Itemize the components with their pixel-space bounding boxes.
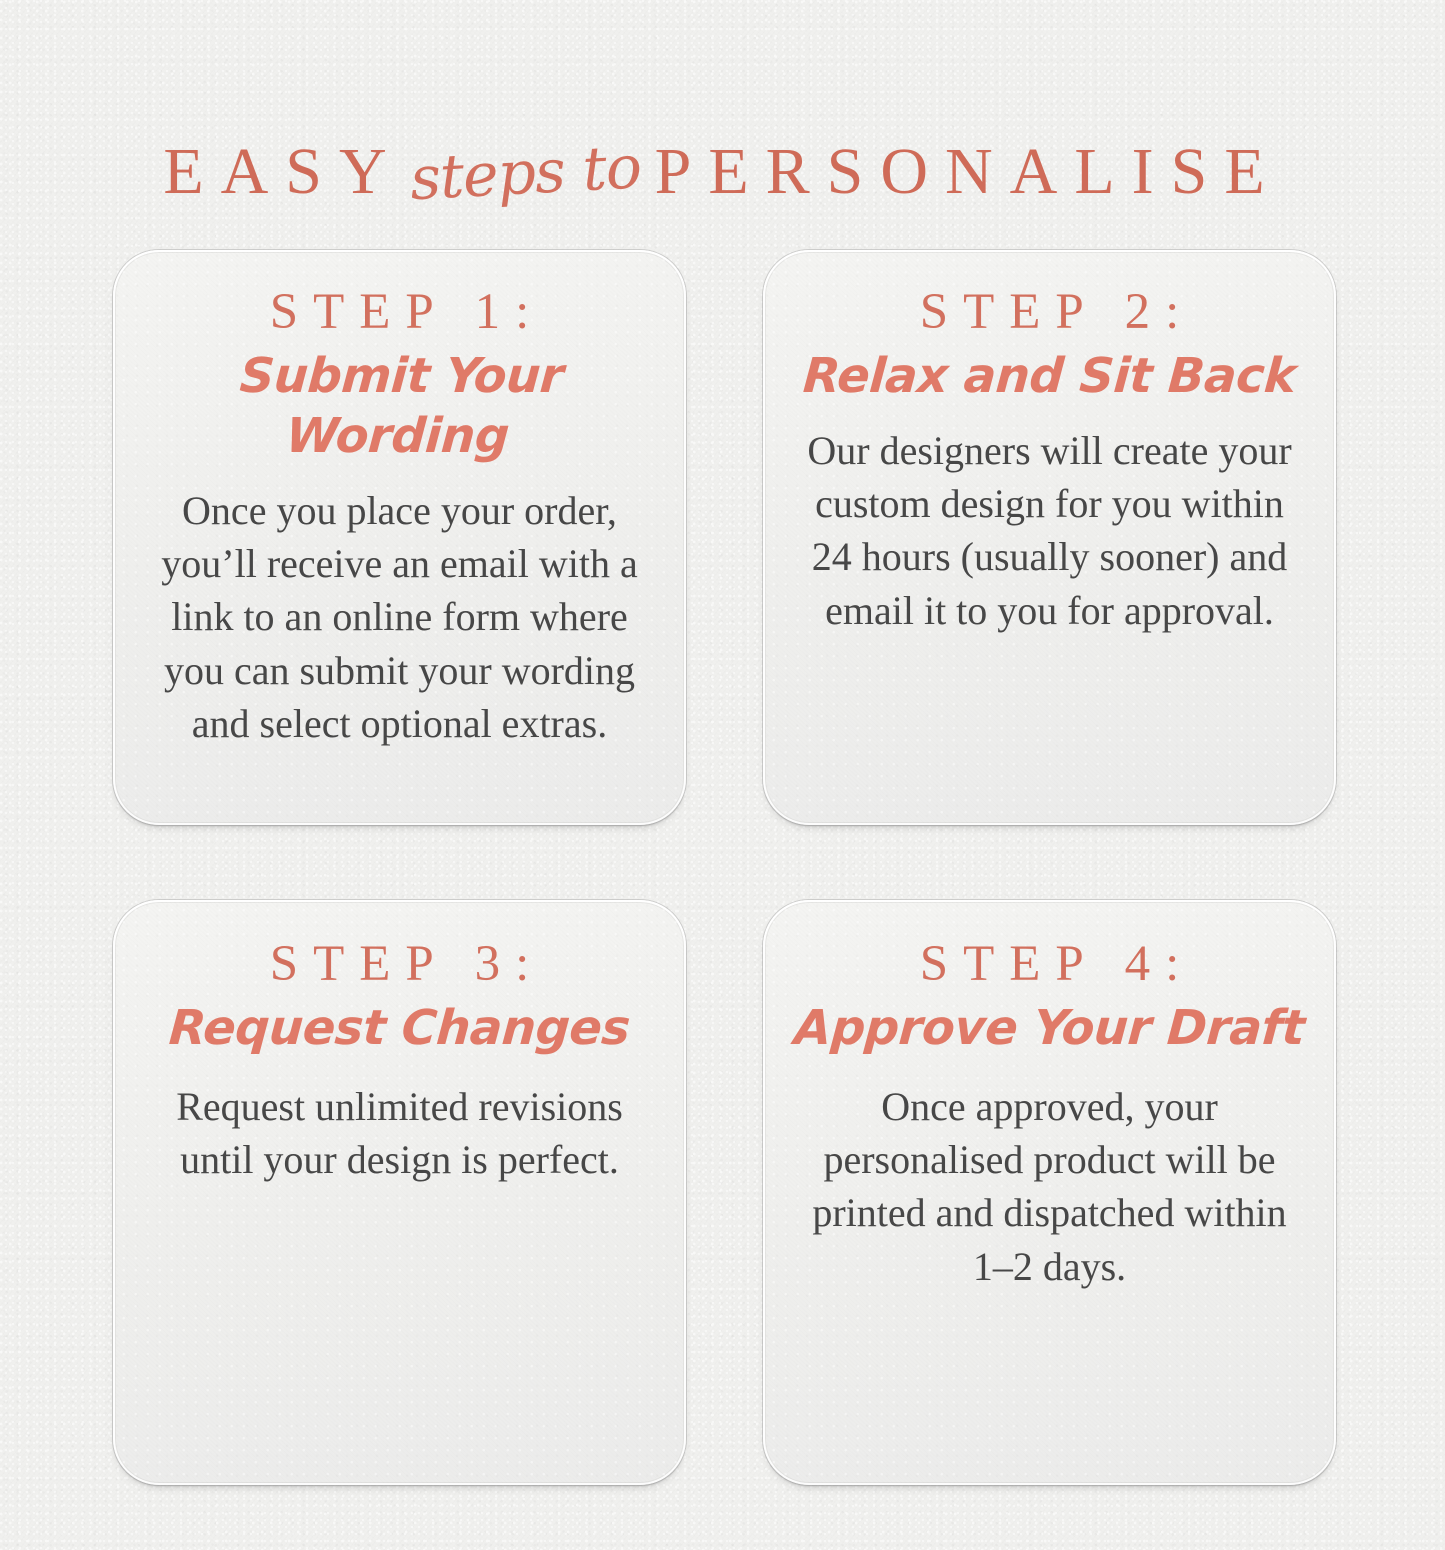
step-4-title: Approve Your Draft <box>791 998 1308 1058</box>
page-title-script-steps-to: steps to <box>402 137 656 210</box>
step-2-body: Our designers will create your custom de… <box>800 424 1300 637</box>
step-card-1-content: STEP 1: Submit Your Wording Once you pla… <box>143 284 656 750</box>
step-card-4: STEP 4: Approve Your Draft Once approved… <box>763 900 1336 1485</box>
step-4-label: STEP 4: <box>793 936 1306 992</box>
personalisation-steps-infographic: EASYsteps toPERSONALISE STEP 1: Submit Y… <box>0 0 1445 1550</box>
step-3-body: Request unlimited revisions until your d… <box>150 1080 650 1186</box>
step-card-1: STEP 1: Submit Your Wording Once you pla… <box>113 250 686 825</box>
page-title-word-personalise: PERSONALISE <box>655 135 1282 208</box>
step-1-label: STEP 1: <box>143 284 656 340</box>
steps-grid: STEP 1: Submit Your Wording Once you pla… <box>113 250 1336 1485</box>
step-2-title: Relax and Sit Back <box>791 346 1308 406</box>
step-card-3: STEP 3: Request Changes Request unlimite… <box>113 900 686 1485</box>
step-1-body: Once you place your order, you’ll receiv… <box>150 484 650 750</box>
step-3-title: Request Changes <box>141 998 658 1058</box>
step-2-label: STEP 2: <box>793 284 1306 340</box>
step-3-label: STEP 3: <box>143 936 656 992</box>
step-1-title: Submit Your Wording <box>139 346 660 466</box>
page-title: EASYsteps toPERSONALISE <box>0 139 1445 205</box>
step-4-body: Once approved, your personalised product… <box>800 1080 1300 1293</box>
step-card-4-content: STEP 4: Approve Your Draft Once approved… <box>793 936 1306 1293</box>
step-card-3-content: STEP 3: Request Changes Request unlimite… <box>143 936 656 1186</box>
step-card-2: STEP 2: Relax and Sit Back Our designers… <box>763 250 1336 825</box>
page-title-word-easy: EASY <box>163 135 403 208</box>
step-card-2-content: STEP 2: Relax and Sit Back Our designers… <box>793 284 1306 637</box>
